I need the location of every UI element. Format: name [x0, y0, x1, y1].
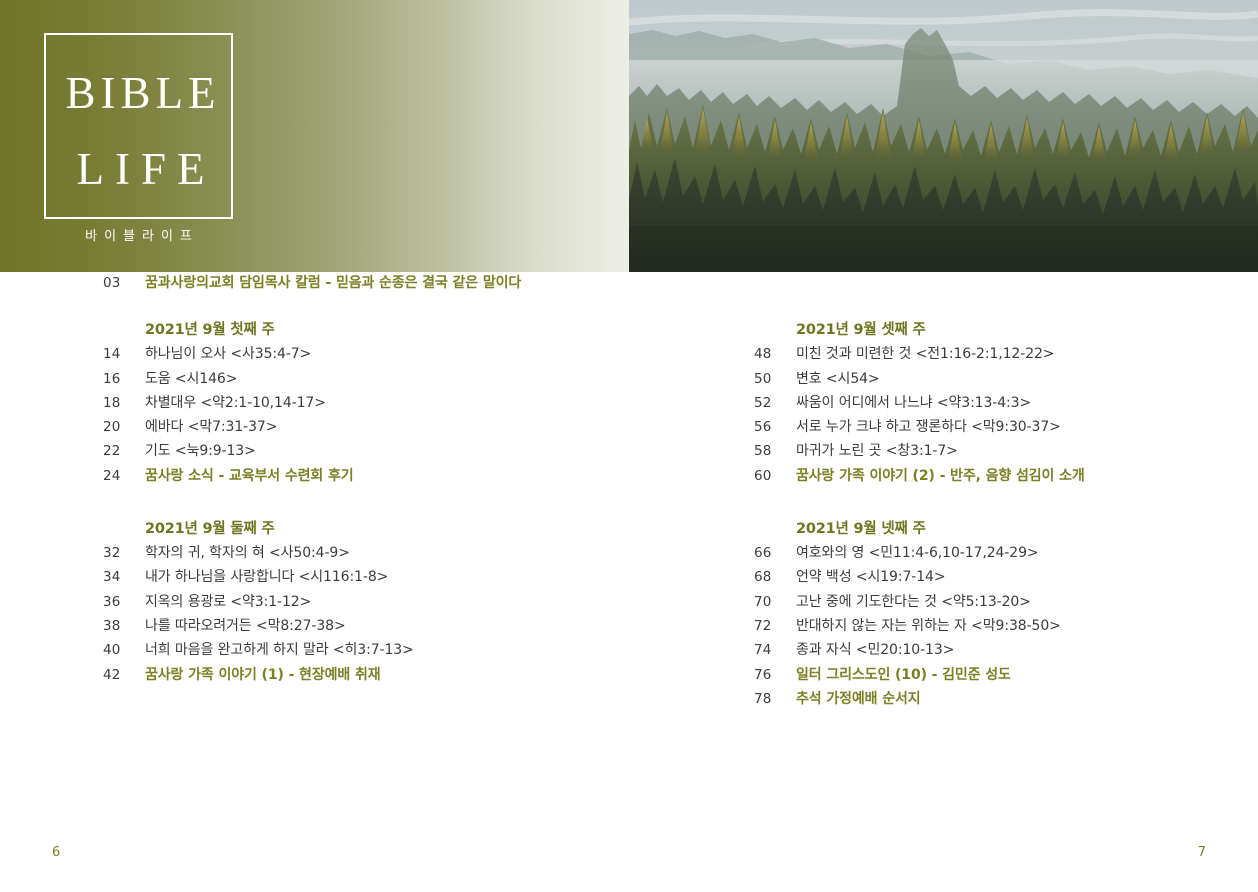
toc-entry-78[interactable]: 78 추석 가정예배 순서지 [754, 688, 1258, 712]
toc-week-heading-4: 2021년 9월 넷째 주 [754, 517, 1258, 542]
toc-entry-page: 60 [754, 468, 796, 484]
forest-photo-artwork [629, 0, 1258, 272]
toc-entry-page: 48 [754, 346, 796, 362]
toc-entry-page: 68 [754, 569, 796, 585]
toc-entry-page: 66 [754, 545, 796, 561]
table-of-contents: 03 꿈과사랑의교회 담임목사 칼럼 - 믿음과 순종은 결국 같은 말이다 2… [0, 272, 1258, 832]
toc-entry-title: 종과 자식 <민20:10-13> [796, 639, 954, 659]
forest-photo [629, 0, 1258, 272]
toc-entry-title: 도움 <시146> [145, 368, 237, 388]
logo-word-life: LIFE [46, 147, 235, 192]
toc-entry-32[interactable]: 32 학자의 귀, 학자의 혀 <사50:4-9> [103, 542, 663, 566]
toc-entry-title: 추석 가정예배 순서지 [796, 688, 921, 708]
toc-entry-58[interactable]: 58 마귀가 노린 곳 <창3:1-7> [754, 440, 1258, 464]
toc-entry-76[interactable]: 76 일터 그리스도인 (10) - 김민준 성도 [754, 664, 1258, 688]
toc-entry-page: 52 [754, 395, 796, 411]
toc-entry-24[interactable]: 24 꿈사랑 소식 - 교육부서 수련회 후기 [103, 465, 663, 489]
logo-word-bible: BIBLE [46, 71, 235, 116]
toc-entry-page: 42 [103, 667, 145, 683]
week-heading-label: 2021년 9월 첫째 주 [145, 318, 275, 339]
toc-week-heading-2: 2021년 9월 둘째 주 [103, 517, 663, 542]
toc-entry-page: 40 [103, 642, 145, 658]
toc-entry-title: 미친 것과 미련한 것 <전1:16-2:1,12-22> [796, 343, 1054, 363]
toc-entry-56[interactable]: 56 서로 누가 크냐 하고 쟁론하다 <막9:30-37> [754, 416, 1258, 440]
spacer [103, 296, 663, 318]
toc-entry-74[interactable]: 74 종과 자식 <민20:10-13> [754, 639, 1258, 663]
magazine-spread: BIBLE LIFE 바이블라이프 [0, 0, 1258, 892]
spacer [103, 489, 663, 511]
toc-entry-18[interactable]: 18 차별대우 <약2:1-10,14-17> [103, 392, 663, 416]
toc-entry-50[interactable]: 50 변호 <시54> [754, 368, 1258, 392]
page-folio-left: 6 [52, 845, 60, 860]
toc-entry-column[interactable]: 03 꿈과사랑의교회 담임목사 칼럼 - 믿음과 순종은 결국 같은 말이다 [103, 272, 663, 296]
spacer [754, 296, 1258, 318]
toc-entry-title: 꿈사랑 가족 이야기 (1) - 현장예배 취재 [145, 664, 381, 684]
toc-entry-70[interactable]: 70 고난 중에 기도한다는 것 <약5:13-20> [754, 591, 1258, 615]
toc-entry-title: 일터 그리스도인 (10) - 김민준 성도 [796, 664, 1011, 684]
toc-entry-page: 56 [754, 419, 796, 435]
toc-entry-title: 마귀가 노린 곳 <창3:1-7> [796, 440, 958, 460]
toc-entry-page: 50 [754, 371, 796, 387]
toc-entry-title: 서로 누가 크냐 하고 쟁론하다 <막9:30-37> [796, 416, 1061, 436]
toc-week-heading-1: 2021년 9월 첫째 주 [103, 318, 663, 343]
toc-entry-page: 38 [103, 618, 145, 634]
toc-entry-48[interactable]: 48 미친 것과 미련한 것 <전1:16-2:1,12-22> [754, 343, 1258, 367]
toc-entry-title: 꿈과사랑의교회 담임목사 칼럼 - 믿음과 순종은 결국 같은 말이다 [145, 272, 521, 292]
toc-entry-title: 고난 중에 기도한다는 것 <약5:13-20> [796, 591, 1031, 611]
logo-frame: BIBLE LIFE [44, 33, 233, 219]
toc-entry-22[interactable]: 22 기도 <눅9:9-13> [103, 440, 663, 464]
toc-left-column: 03 꿈과사랑의교회 담임목사 칼럼 - 믿음과 순종은 결국 같은 말이다 2… [103, 272, 663, 688]
toc-entry-title: 지옥의 용광로 <약3:1-12> [145, 591, 311, 611]
toc-entry-page: 03 [103, 275, 145, 291]
toc-entry-title: 학자의 귀, 학자의 혀 <사50:4-9> [145, 542, 350, 562]
toc-entry-title: 꿈사랑 소식 - 교육부서 수련회 후기 [145, 465, 354, 485]
toc-entry-page: 36 [103, 594, 145, 610]
toc-entry-page: 20 [103, 419, 145, 435]
toc-entry-title: 에바다 <막7:31-37> [145, 416, 277, 436]
toc-entry-72[interactable]: 72 반대하지 않는 자는 위하는 자 <막9:38-50> [754, 615, 1258, 639]
toc-entry-42[interactable]: 42 꿈사랑 가족 이야기 (1) - 현장예배 취재 [103, 664, 663, 688]
toc-entry-title: 너희 마음을 완고하게 하지 말라 <히3:7-13> [145, 639, 414, 659]
toc-entry-title: 차별대우 <약2:1-10,14-17> [145, 392, 326, 412]
toc-entry-page: 58 [754, 443, 796, 459]
toc-entry-34[interactable]: 34 내가 하나님을 사랑합니다 <시116:1-8> [103, 566, 663, 590]
toc-week-heading-3: 2021년 9월 셋째 주 [754, 318, 1258, 343]
toc-entry-page: 34 [103, 569, 145, 585]
toc-entry-page: 78 [754, 691, 796, 707]
toc-entry-title: 나를 따라오려거든 <막8:27-38> [145, 615, 346, 635]
logo-subtitle: 바이블라이프 [44, 225, 233, 244]
week-heading-label: 2021년 9월 둘째 주 [145, 517, 275, 538]
toc-entry-title: 언약 백성 <시19:7-14> [796, 566, 945, 586]
toc-entry-title: 여호와의 영 <민11:4-6,10-17,24-29> [796, 542, 1039, 562]
toc-entry-60[interactable]: 60 꿈사랑 가족 이야기 (2) - 반주, 음향 섬김이 소개 [754, 465, 1258, 489]
toc-entry-title: 꿈사랑 가족 이야기 (2) - 반주, 음향 섬김이 소개 [796, 465, 1085, 485]
toc-entry-page: 22 [103, 443, 145, 459]
brand-panel: BIBLE LIFE 바이블라이프 [0, 0, 629, 272]
toc-entry-page: 24 [103, 468, 145, 484]
toc-entry-page: 18 [103, 395, 145, 411]
toc-entry-36[interactable]: 36 지옥의 용광로 <약3:1-12> [103, 591, 663, 615]
toc-entry-52[interactable]: 52 싸움이 어디에서 나느냐 <약3:13-4:3> [754, 392, 1258, 416]
toc-entry-68[interactable]: 68 언약 백성 <시19:7-14> [754, 566, 1258, 590]
spacer [754, 489, 1258, 511]
toc-entry-title: 반대하지 않는 자는 위하는 자 <막9:38-50> [796, 615, 1061, 635]
toc-entry-page: 70 [754, 594, 796, 610]
week-heading-label: 2021년 9월 셋째 주 [796, 318, 926, 339]
toc-entry-title: 변호 <시54> [796, 368, 880, 388]
week-heading-label: 2021년 9월 넷째 주 [796, 517, 926, 538]
toc-right-column: 2021년 9월 셋째 주 48 미친 것과 미련한 것 <전1:16-2:1,… [754, 272, 1258, 712]
toc-entry-page: 14 [103, 346, 145, 362]
toc-entry-16[interactable]: 16 도움 <시146> [103, 368, 663, 392]
toc-entry-66[interactable]: 66 여호와의 영 <민11:4-6,10-17,24-29> [754, 542, 1258, 566]
toc-entry-page: 76 [754, 667, 796, 683]
toc-entry-title: 내가 하나님을 사랑합니다 <시116:1-8> [145, 566, 388, 586]
toc-entry-20[interactable]: 20 에바다 <막7:31-37> [103, 416, 663, 440]
toc-entry-page: 72 [754, 618, 796, 634]
toc-entry-page: 16 [103, 371, 145, 387]
toc-entry-40[interactable]: 40 너희 마음을 완고하게 하지 말라 <히3:7-13> [103, 639, 663, 663]
toc-entry-title: 기도 <눅9:9-13> [145, 440, 256, 460]
toc-entry-title: 하나님이 오사 <사35:4-7> [145, 343, 311, 363]
toc-entry-38[interactable]: 38 나를 따라오려거든 <막8:27-38> [103, 615, 663, 639]
page-folio-right: 7 [1198, 845, 1206, 860]
toc-entry-page: 74 [754, 642, 796, 658]
toc-entry-title: 싸움이 어디에서 나느냐 <약3:13-4:3> [796, 392, 1031, 412]
header-band: BIBLE LIFE 바이블라이프 [0, 0, 1258, 272]
toc-entry-page: 32 [103, 545, 145, 561]
toc-entry-14[interactable]: 14 하나님이 오사 <사35:4-7> [103, 343, 663, 367]
